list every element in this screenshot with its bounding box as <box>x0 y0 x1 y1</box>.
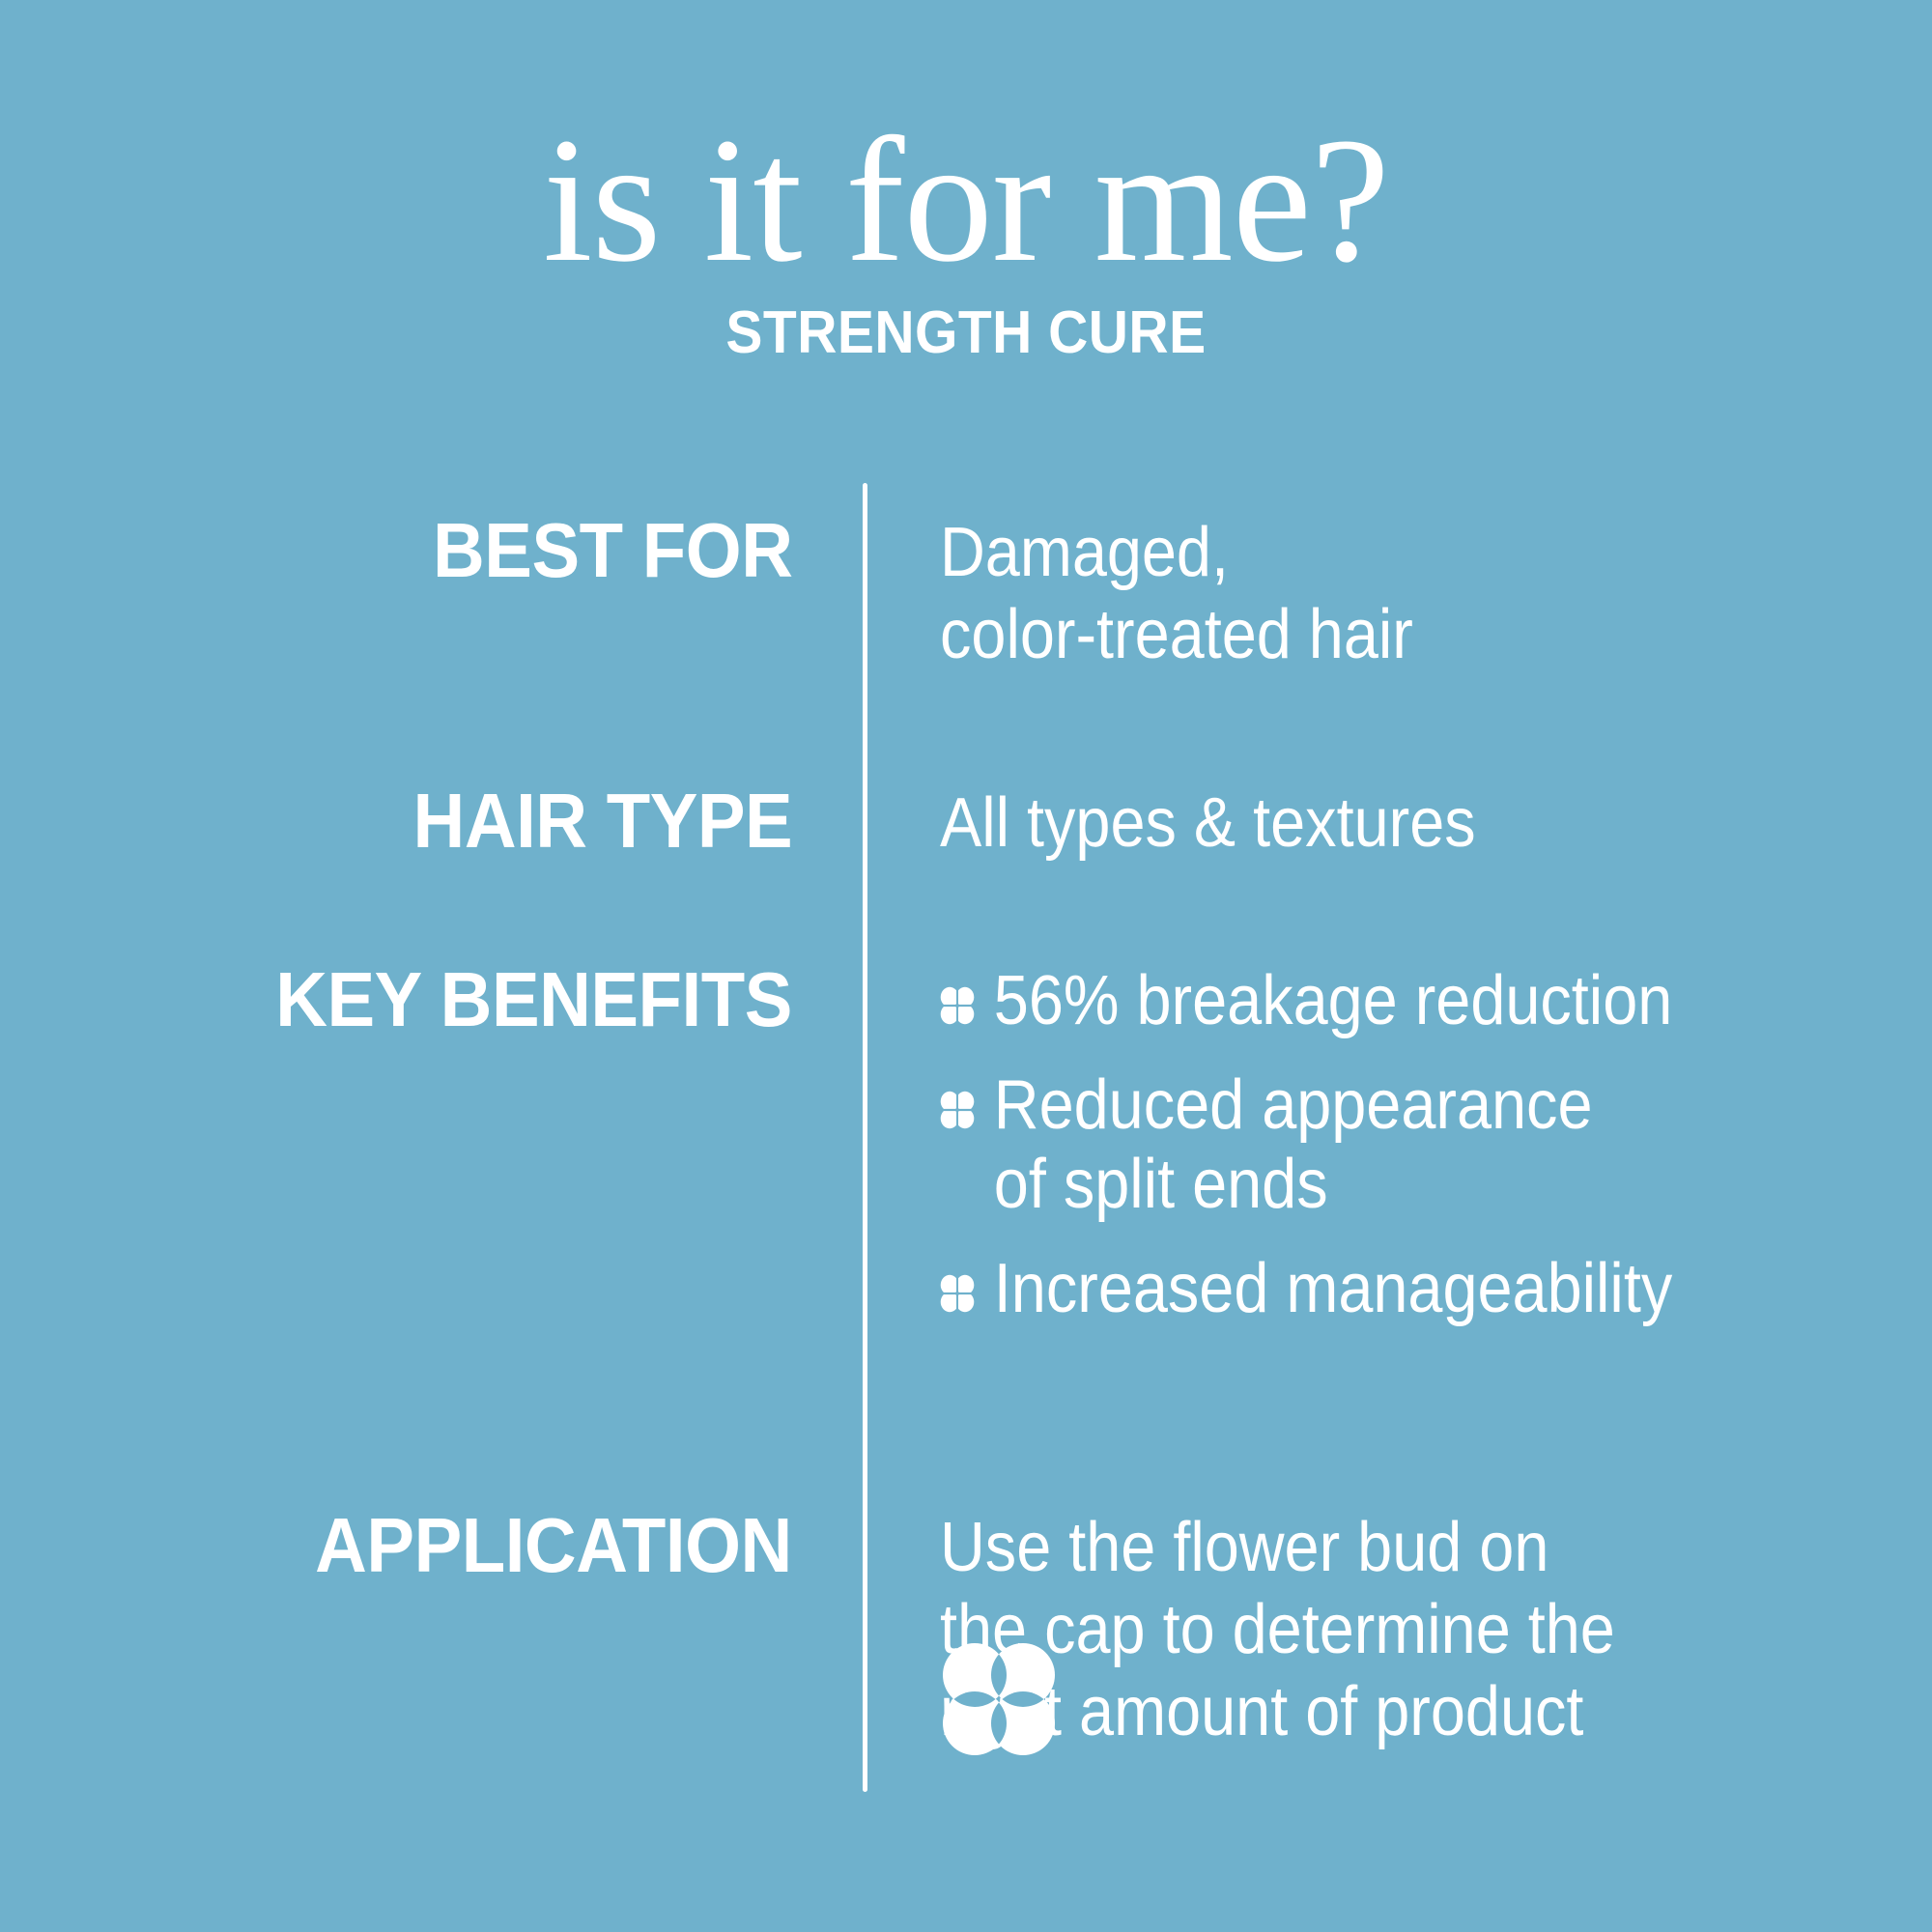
row-label-application: APPLICATION <box>315 1507 792 1584</box>
benefit-text: 56% breakage reduction <box>994 961 1672 1040</box>
list-item: 56% breakage reduction <box>940 961 1806 1040</box>
row-label-cell: KEY BENEFITS <box>0 961 863 1038</box>
strength-cure-info-card: is it for me? STRENGTH CURE BEST FOR Dam… <box>0 0 1932 1932</box>
table-row: HAIR TYPE All types & textures <box>0 782 1932 865</box>
spec-table: BEST FOR Damaged, color-treated hair HAI… <box>0 483 1932 1753</box>
quatrefoil-bullet-icon <box>940 1274 975 1313</box>
quatrefoil-bullet-icon <box>940 1091 975 1129</box>
list-item: Increased manageability <box>940 1249 1806 1328</box>
table-row: KEY BENEFITS 56% breakage reduction Redu… <box>0 961 1932 1328</box>
flower-logo-icon <box>942 1642 1056 1756</box>
row-value-hair-type: All types & textures <box>940 782 1806 865</box>
list-item: Reduced appearance of split ends <box>940 1065 1806 1224</box>
row-value-application: Use the flower bud on the cap to determi… <box>940 1507 1806 1753</box>
row-value-cell: Damaged, color-treated hair <box>863 512 1932 676</box>
row-label-key-benefits: KEY BENEFITS <box>275 961 792 1038</box>
page-title: is it for me? <box>0 116 1932 286</box>
row-value-best-for: Damaged, color-treated hair <box>940 512 1806 676</box>
row-label-hair-type: HAIR TYPE <box>412 782 792 860</box>
table-row: BEST FOR Damaged, color-treated hair <box>0 512 1932 676</box>
row-label-best-for: BEST FOR <box>433 512 792 589</box>
row-value-cell: 56% breakage reduction Reduced appearanc… <box>863 961 1932 1328</box>
row-label-cell: BEST FOR <box>0 512 863 589</box>
benefit-text: Increased manageability <box>994 1249 1672 1328</box>
quatrefoil-bullet-icon <box>940 986 975 1025</box>
row-label-cell: APPLICATION <box>0 1507 863 1584</box>
benefit-text: Reduced appearance of split ends <box>994 1065 1593 1224</box>
row-value-cell: All types & textures <box>863 782 1932 865</box>
card-header: is it for me? STRENGTH CURE <box>0 116 1932 363</box>
row-label-cell: HAIR TYPE <box>0 782 863 860</box>
key-benefits-list: 56% breakage reduction Reduced appearanc… <box>940 961 1806 1328</box>
product-line-subtitle: STRENGTH CURE <box>77 303 1855 363</box>
